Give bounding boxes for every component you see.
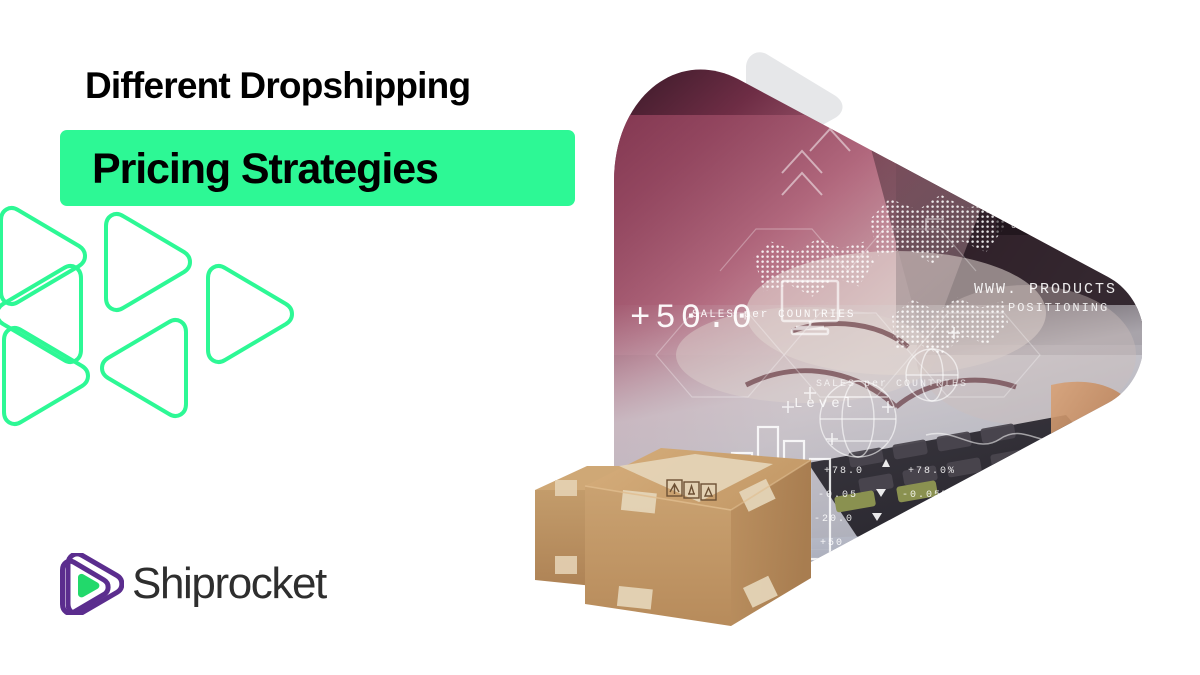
svg-text:-10.0%: -10.0% <box>896 562 944 573</box>
svg-text:600: 600 <box>998 125 1017 135</box>
page-title-line1: Different Dropshipping <box>85 66 470 107</box>
box-front <box>585 448 811 626</box>
decorative-triangle-pattern <box>0 268 238 528</box>
svg-text:+78.0%: +78.0% <box>908 466 956 477</box>
photo-overlay-positioning: POSITIONING <box>1008 301 1109 315</box>
photo-overlay-www-products: WWW. PRODUCTS <box>974 281 1117 298</box>
svg-text:+50.0%: +50.0% <box>904 538 952 549</box>
svg-text:-0.05%: -0.05% <box>902 490 950 501</box>
photo-overlay-stock-market: STOCK MARKET <box>906 587 1122 610</box>
photo-overlay-plus50: +50.0 <box>630 300 757 338</box>
svg-text:-20.0%: -20.0% <box>898 514 946 525</box>
shiprocket-logo[interactable]: Shiprocket <box>60 549 360 619</box>
svg-text:20: 20 <box>1043 221 1056 231</box>
shiprocket-logo-mark <box>60 553 124 615</box>
photo-overlay-sales-2: SALES per COUNTRIES <box>816 379 968 390</box>
page-title-line2: Pricing Strategies <box>92 140 438 198</box>
svg-text:500: 500 <box>998 151 1017 161</box>
svg-text:60: 60 <box>1111 221 1124 231</box>
photo-overlay-level: Level <box>794 396 856 412</box>
svg-text:40: 40 <box>1077 221 1090 231</box>
svg-text:80: 80 <box>1140 221 1142 231</box>
svg-text:700: 700 <box>998 99 1017 109</box>
svg-text:-30.0%: -30.0% <box>892 586 940 597</box>
poster-canvas: Different Dropshipping Pricing Strategie… <box>0 0 1200 675</box>
cardboard-boxes <box>515 428 855 675</box>
svg-text:300: 300 <box>998 203 1017 213</box>
svg-text:400: 400 <box>998 177 1017 187</box>
shiprocket-wordmark: Shiprocket <box>132 557 326 611</box>
svg-text:00: 00 <box>1011 221 1024 231</box>
